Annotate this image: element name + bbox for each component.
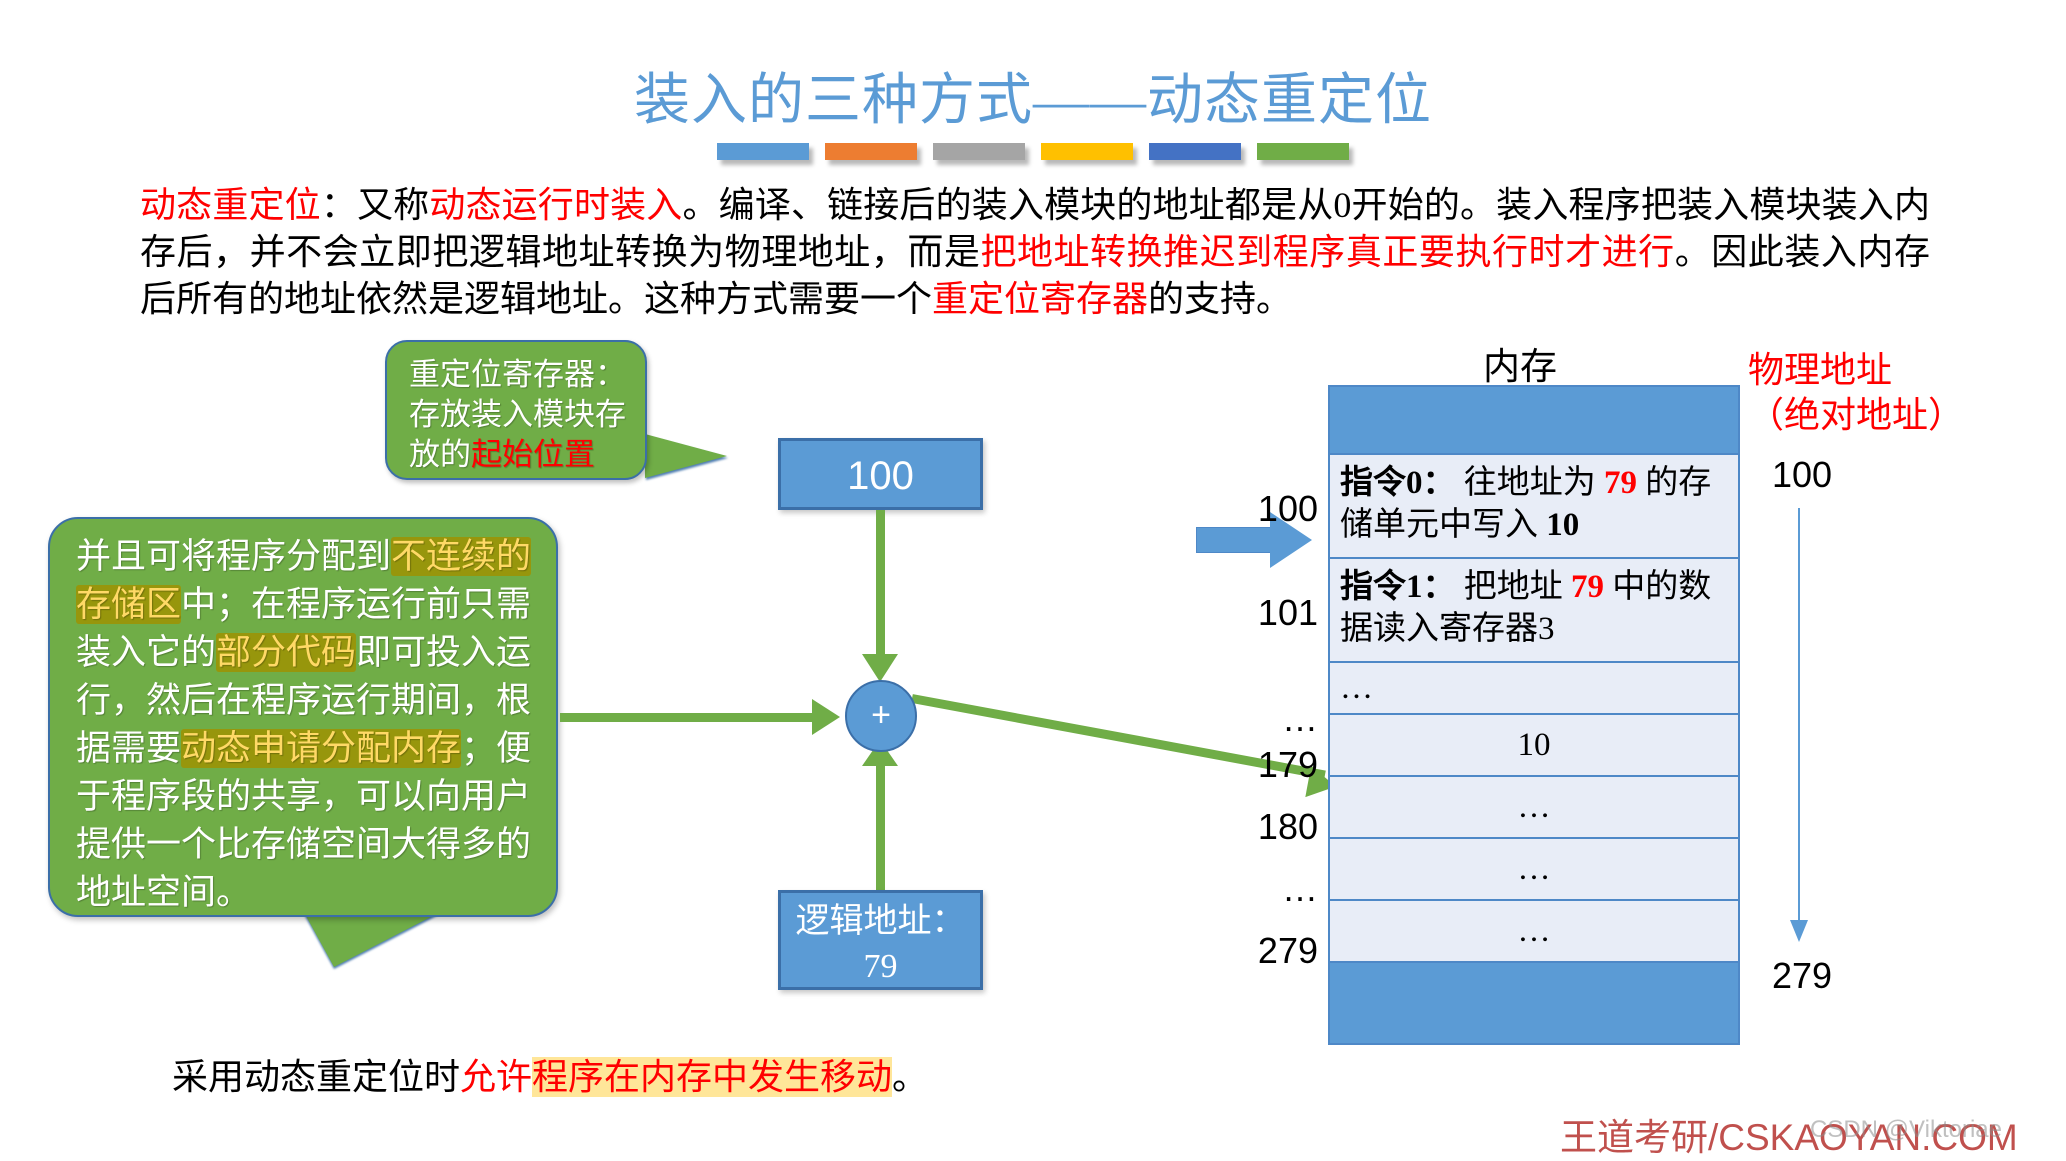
memory-address-label-279: 279 [1188, 930, 1318, 972]
memory-address-label-180: 180 [1188, 806, 1318, 848]
memory-row-100-value: 10 [1546, 507, 1579, 543]
memory-address-label-179: 179 [1188, 744, 1318, 786]
callout-register-line1: 重定位寄存器： [409, 357, 626, 392]
table-row: … [1330, 663, 1738, 715]
title-bar-4 [1041, 143, 1133, 160]
bottom-note-red: 允许 [460, 1057, 532, 1097]
logical-address-value: 79 [781, 944, 980, 989]
memory-row-ellipsis-1: … [1340, 670, 1373, 707]
callout-relocation-register: 重定位寄存器：存放装入模块存放的起始位置 [385, 340, 647, 480]
callout-main-highlight-2: 部分代码 [216, 633, 356, 672]
title-bar-1 [717, 143, 809, 160]
bottom-note-end: 。 [892, 1057, 928, 1097]
memory-address-label-100: 100 [1188, 488, 1318, 530]
callout-register-highlight: 起始位置 [471, 437, 595, 472]
intro-text-4: 的支持。 [1148, 279, 1292, 319]
physical-address-label-line2: （绝对地址） [1748, 395, 1964, 435]
table-row: 指令0： 往地址为 79 的存储单元中写入 10 [1330, 455, 1738, 559]
physical-address-range-line [1798, 508, 1800, 924]
memory-row-101-prefix: 指令1： [1340, 569, 1456, 605]
logical-address-label: 逻辑地址： [781, 899, 980, 944]
pc-pointer-arrow-body-icon [1196, 527, 1274, 553]
memory-address-label-ellipsis-2: … [1188, 868, 1318, 910]
intro-text-1: ：又称 [321, 185, 430, 225]
table-row: 10 [1330, 715, 1738, 777]
physical-address-label: 物理地址（绝对地址） [1748, 348, 2048, 438]
memory-row-101-address: 79 [1571, 569, 1604, 605]
callout-main-text-1: 并且可将程序分配到 [76, 537, 391, 576]
physical-address-range-arrow-icon [1790, 920, 1808, 942]
bottom-note-highlight: 程序在内存中发生移动 [532, 1057, 892, 1097]
memory-address-label-101: 101 [1188, 592, 1318, 634]
title-bar-3 [933, 143, 1025, 160]
title-decoration-bars [0, 143, 2066, 160]
memory-row-ellipsis-2-value: … [1518, 851, 1551, 888]
callout-register-line2: 存放装入模块存 [409, 397, 626, 432]
callout-register-tail [645, 434, 727, 478]
physical-address-label-line1: 物理地址 [1748, 350, 1892, 390]
memory-row-100-address: 79 [1604, 465, 1637, 501]
title-bar-5 [1149, 143, 1241, 160]
table-row: … [1330, 839, 1738, 901]
page-title: 装入的三种方式——动态重定位 [0, 55, 2066, 136]
memory-row-top-cap [1330, 387, 1738, 455]
logical-address-box: 逻辑地址： 79 [778, 890, 983, 990]
intro-term-runtime-load: 动态运行时装入 [429, 185, 682, 225]
memory-row-bottom-cap [1330, 963, 1738, 1043]
watermark-text: CSDN @Viktoriae [1810, 1116, 2002, 1144]
arrow-callout-to-adder-head-icon [812, 699, 840, 735]
memory-title: 内存 [1320, 336, 1720, 390]
table-row: … [1330, 777, 1738, 839]
memory-row-100-prefix: 指令0： [1340, 465, 1456, 501]
memory-table: 指令0： 往地址为 79 的存储单元中写入 10 指令1： 把地址 79 中的数… [1328, 385, 1740, 1045]
callout-register-text: 重定位寄存器：存放装入模块存放的起始位置 [409, 355, 639, 475]
callout-main-text: 并且可将程序分配到不连续的存储区中；在程序运行前只需装入它的部分代码即可投入运行… [76, 533, 536, 917]
memory-row-100-mid: 往地址为 [1456, 465, 1605, 501]
callout-register-line3-prefix: 放的 [409, 437, 471, 472]
bottom-note-plain: 采用动态重定位时 [172, 1057, 460, 1097]
memory-row-179-value: 10 [1518, 727, 1551, 764]
arrow-logical-to-adder-line [876, 760, 885, 892]
arrow-callout-to-adder-line [560, 713, 820, 722]
arrow-register-to-adder-line [876, 510, 885, 662]
relocation-register-box: 100 [778, 438, 983, 510]
memory-row-180-value: … [1518, 789, 1551, 826]
table-row: 指令1： 把地址 79 中的数据读入寄存器3 [1330, 559, 1738, 663]
memory-address-label-ellipsis-1: … [1188, 698, 1318, 740]
memory-row-279-value: … [1518, 913, 1551, 950]
arrow-register-to-adder-head-icon [862, 654, 898, 682]
intro-paragraph: 动态重定位：又称动态运行时装入。编译、链接后的装入模块的地址都是从0开始的。装入… [140, 182, 1930, 323]
title-bar-6 [1257, 143, 1349, 160]
intro-term-relocation-register: 重定位寄存器 [932, 279, 1148, 319]
title-bar-2 [825, 143, 917, 160]
intro-term-dynamic-relocation: 动态重定位 [140, 185, 321, 225]
intro-emph-defer-translation: 把地址转换推迟到程序真正要执行时才进行 [980, 232, 1674, 272]
memory-row-101-mid: 把地址 [1456, 569, 1572, 605]
callout-main-highlight-3: 动态申请分配内存 [181, 729, 461, 768]
callout-main-description: 并且可将程序分配到不连续的存储区中；在程序运行前只需装入它的部分代码即可投入运行… [48, 517, 558, 917]
physical-address-end: 279 [1772, 955, 1832, 997]
adder-node: + [845, 680, 917, 752]
table-row: … [1330, 901, 1738, 963]
physical-address-start: 100 [1772, 454, 1832, 496]
bottom-note: 采用动态重定位时允许程序在内存中发生移动。 [172, 1048, 928, 1100]
